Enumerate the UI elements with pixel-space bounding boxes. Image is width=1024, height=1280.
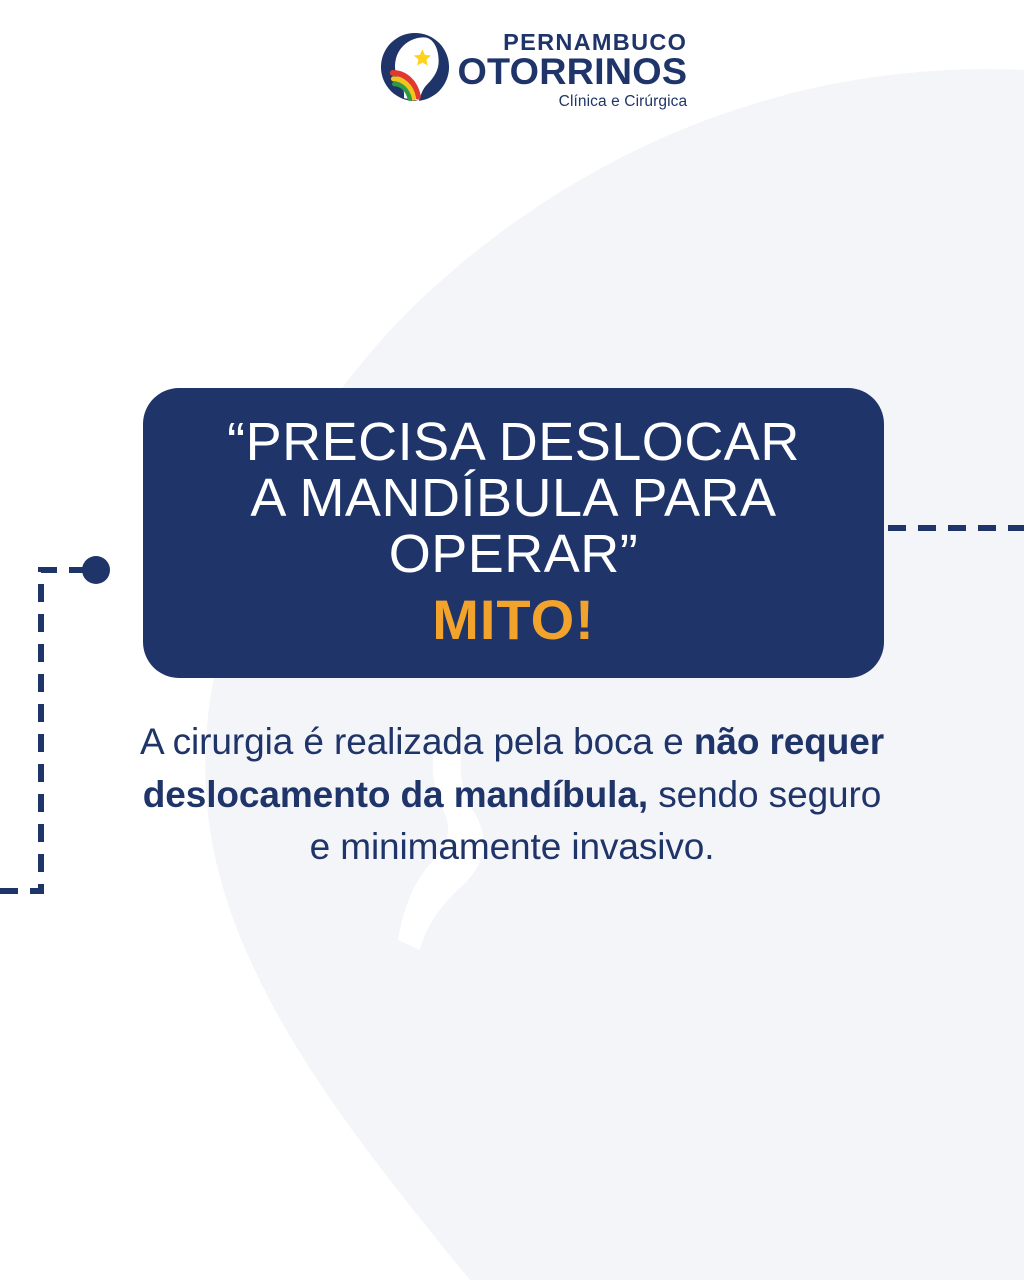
- brand-logo: PERNAMBUCO OTORRINOS Clínica e Cirúrgica: [378, 26, 650, 126]
- body-text-part1: A cirurgia é realizada pela boca e: [140, 721, 694, 762]
- body-paragraph: A cirurgia é realizada pela boca e não r…: [132, 716, 892, 874]
- filled-dot: [82, 556, 110, 584]
- verdict-label: MITO!: [432, 592, 595, 648]
- head-profile-rainbow-icon: [378, 30, 452, 104]
- headline-card: “PRECISA DESLOCAR A MANDÍBULA PARA OPERA…: [143, 388, 884, 678]
- brand-tagline: Clínica e Cirúrgica: [559, 90, 688, 113]
- poster-canvas: PERNAMBUCO OTORRINOS Clínica e Cirúrgica…: [0, 0, 1024, 1280]
- brand-name-line2: OTORRINOS: [457, 54, 687, 90]
- headline-quote: “PRECISA DESLOCAR A MANDÍBULA PARA OPERA…: [227, 414, 800, 582]
- brand-wordmark: PERNAMBUCO OTORRINOS Clínica e Cirúrgica: [462, 26, 687, 113]
- dashed-connector-line: [0, 570, 83, 891]
